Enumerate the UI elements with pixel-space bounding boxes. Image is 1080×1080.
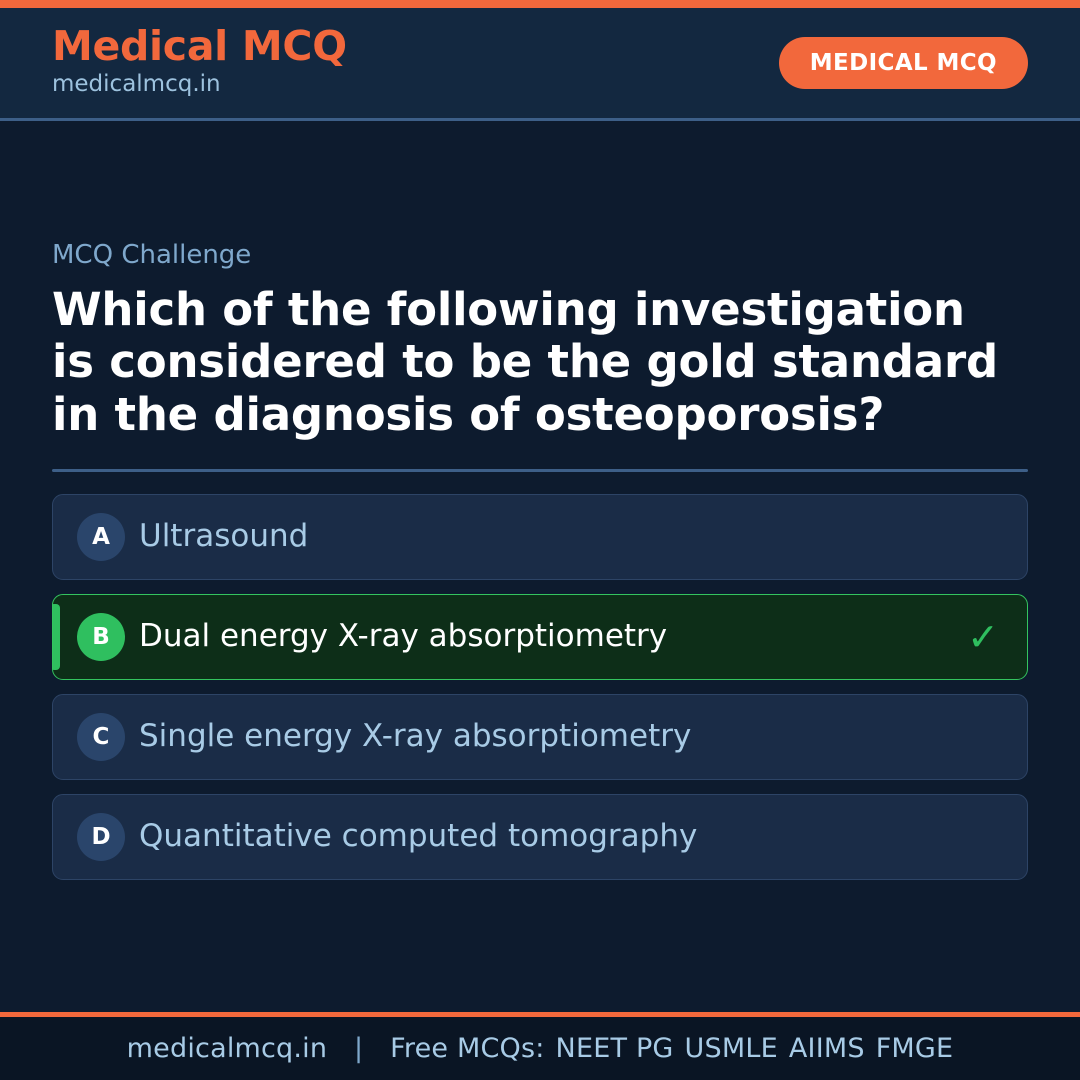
footer-exam-usmle: USMLE — [685, 1033, 778, 1064]
top-accent-bar — [0, 0, 1080, 8]
brand-block: Medical MCQ medicalmcq.in — [52, 25, 347, 98]
options-list: A Ultrasound ✓ B Dual energy X-ray absor… — [52, 494, 1028, 880]
option-letter-badge: C — [77, 713, 125, 761]
option-letter-badge: B — [77, 613, 125, 661]
option-letter-badge: D — [77, 813, 125, 861]
question-text: Which of the following investigation is … — [52, 284, 1012, 442]
option-a[interactable]: A Ultrasound ✓ — [52, 494, 1028, 580]
option-text: Single energy X-ray absorptiometry — [139, 718, 961, 755]
footer-exam-aiims: AIIMS — [789, 1033, 865, 1064]
option-text: Quantitative computed tomography — [139, 818, 961, 855]
option-b[interactable]: B Dual energy X-ray absorptiometry ✓ — [52, 594, 1028, 680]
footer: medicalmcq.in | Free MCQs:NEET PGUSMLEAI… — [0, 1012, 1080, 1080]
mcq-card: Medical MCQ medicalmcq.in MEDICAL MCQ MC… — [0, 0, 1080, 1080]
option-text: Ultrasound — [139, 518, 961, 555]
brand-title: Medical MCQ — [52, 25, 347, 68]
option-letter-badge: A — [77, 513, 125, 561]
footer-separator: | — [354, 1033, 363, 1064]
header: Medical MCQ medicalmcq.in MEDICAL MCQ — [0, 8, 1080, 121]
header-badge-pill: MEDICAL MCQ — [779, 37, 1028, 89]
main-content: MCQ Challenge Which of the following inv… — [0, 121, 1080, 1012]
footer-site-link[interactable]: medicalmcq.in — [127, 1033, 328, 1064]
footer-exams-label: Free MCQs: — [390, 1033, 544, 1064]
footer-exam-neetpg: NEET PG — [556, 1033, 674, 1064]
footer-line: medicalmcq.in | Free MCQs:NEET PGUSMLEAI… — [127, 1033, 954, 1064]
option-c[interactable]: C Single energy X-ray absorptiometry ✓ — [52, 694, 1028, 780]
brand-subtitle: medicalmcq.in — [52, 70, 347, 99]
footer-exam-fmge: FMGE — [876, 1033, 954, 1064]
kicker-label: MCQ Challenge — [52, 241, 1028, 270]
option-d[interactable]: D Quantitative computed tomography ✓ — [52, 794, 1028, 880]
check-icon: ✓ — [961, 618, 1005, 656]
option-text: Dual energy X-ray absorptiometry — [139, 618, 961, 655]
question-divider — [52, 469, 1028, 472]
correct-accent-bar — [53, 604, 60, 670]
